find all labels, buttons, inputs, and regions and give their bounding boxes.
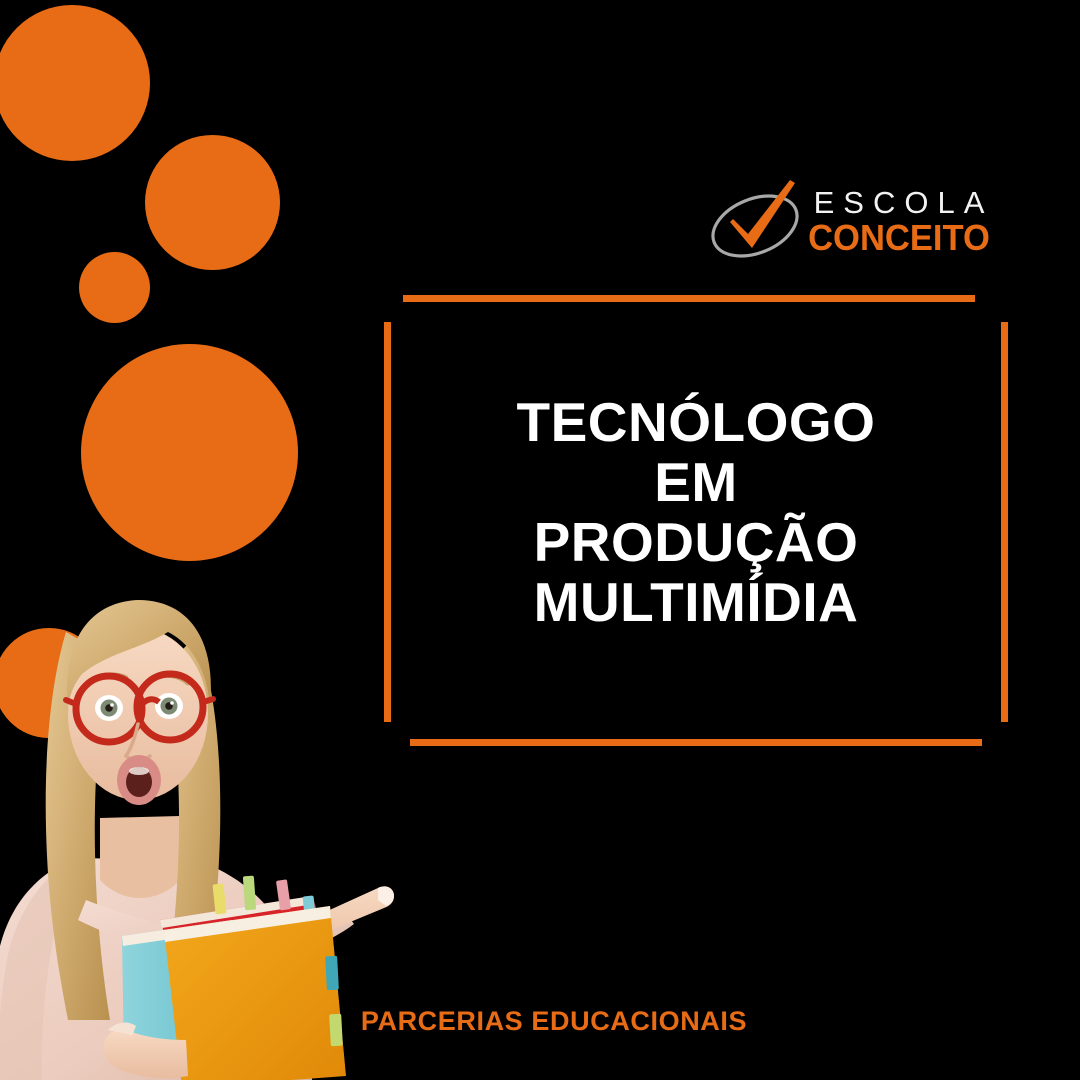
- page-title-line-3: PRODUÇÃO: [391, 512, 1001, 572]
- page-title: TECNÓLOGO EM PRODUÇÃO MULTIMÍDIA: [391, 392, 1001, 632]
- brand-logo: ESCOLA CONCEITO: [700, 176, 990, 276]
- checkmark-in-ellipse-logo-mark-icon: [700, 176, 810, 268]
- page-title-line-2: EM: [391, 452, 1001, 512]
- page-title-line-4: MULTIMÍDIA: [391, 572, 1001, 632]
- woman-mouth-surprised: [117, 755, 161, 805]
- frame-line-bottom: [410, 739, 982, 746]
- decorative-circle-top-left-large: [0, 5, 150, 161]
- poster-canvas: ESCOLA CONCEITO TECNÓLOGO EM PRODUÇÃO MU…: [0, 0, 1080, 1080]
- brand-logo-line-escola: ESCOLA: [804, 186, 994, 220]
- brand-logo-text: ESCOLA CONCEITO: [804, 186, 994, 256]
- page-title-line-1: TECNÓLOGO: [391, 392, 1001, 452]
- decorative-circle-upper-medium: [145, 135, 280, 270]
- frame-line-top: [403, 295, 975, 302]
- decorative-circle-small: [79, 252, 150, 323]
- woman-neck: [100, 816, 180, 898]
- frame-line-right: [1001, 322, 1008, 722]
- photo-woman-pointing: [0, 528, 412, 1080]
- brand-logo-line-conceito: CONCEITO: [808, 220, 990, 256]
